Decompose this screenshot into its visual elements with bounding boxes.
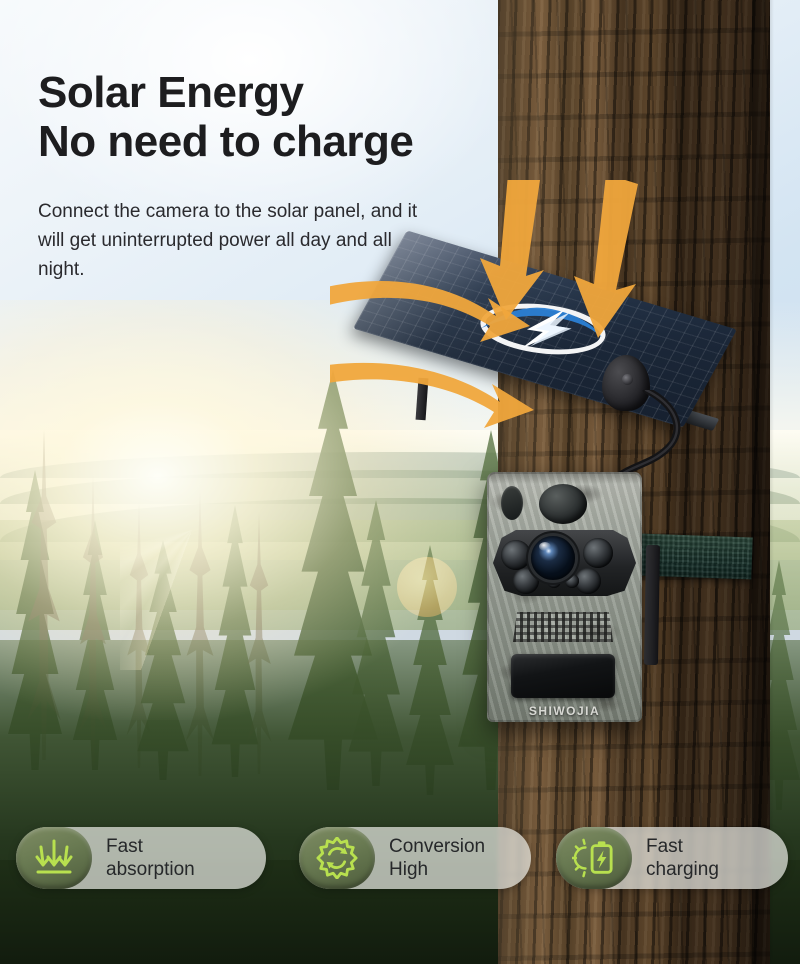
feature-badges: Fast absorption Conversion High [0, 822, 800, 894]
camera-speaker-grille [513, 612, 613, 642]
lens-glint [539, 542, 551, 551]
trunk-shadow-edge [752, 0, 774, 964]
status-led [565, 574, 579, 588]
camera-top-edge [487, 472, 642, 484]
arrow-curve-lower-left [330, 363, 534, 428]
badge-icon-container [556, 827, 632, 889]
conversion-sun-recycle-icon [316, 837, 358, 879]
badge-label: Fast charging [632, 835, 719, 881]
camera-latch [644, 545, 660, 665]
lens-flare-orb [397, 557, 457, 617]
sun-battery-charging-icon [572, 838, 616, 878]
pir-motion-sensor [511, 654, 615, 698]
camera-lens [531, 536, 575, 580]
camera-light-sensor-window [501, 486, 523, 520]
trail-camera: SHIWOJIA [487, 472, 642, 722]
badge-icon-container [16, 827, 92, 889]
body-text: Connect the camera to the solar panel, a… [38, 198, 438, 285]
badge-icon-container [299, 827, 375, 889]
camera-dome-sensor [539, 484, 587, 524]
badge-label: Conversion High [375, 835, 485, 881]
ir-led [583, 538, 613, 568]
badge-label: Fast absorption [92, 835, 195, 881]
arrow-down-right [574, 180, 638, 338]
poster-root: SHIWOJIA Solar Energy No need to charge … [0, 0, 800, 964]
arrow-down-left [480, 180, 544, 320]
badge-conversion-high[interactable]: Conversion High [299, 827, 531, 889]
page-title: Solar Energy No need to charge [38, 68, 413, 167]
badge-fast-charging[interactable]: Fast charging [556, 827, 788, 889]
badge-fast-absorption[interactable]: Fast absorption [16, 827, 266, 889]
headline-line-2: No need to charge [38, 117, 413, 166]
absorption-arrows-icon [32, 838, 76, 878]
ir-led [501, 540, 531, 570]
headline-line-1: Solar Energy [38, 68, 413, 117]
camera-brand-label: SHIWOJIA [487, 704, 642, 718]
